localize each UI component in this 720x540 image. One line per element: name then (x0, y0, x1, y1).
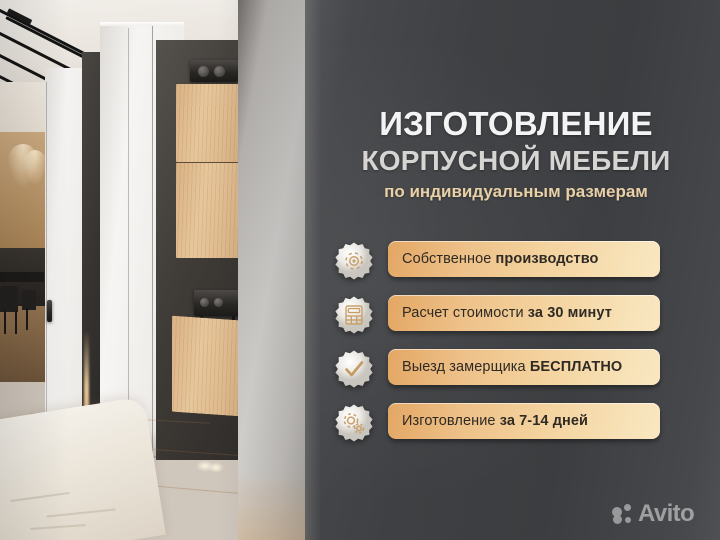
feature-pill: Расчет стоимости за 30 минут (388, 295, 660, 331)
feature-pill: Изготовление за 7-14 дней (388, 403, 660, 439)
feature-text: Выезд замерщика БЕСПЛАТНО (388, 359, 660, 375)
calculator-rosette-icon (334, 295, 374, 335)
avito-watermark: Avito (612, 498, 712, 530)
headline-block: ИЗГОТОВЛЕНИЕ КОРПУСНОЙ МЕБЕЛИ по индивид… (321, 104, 711, 204)
feature-text: Собственное производство (388, 251, 660, 267)
avito-ad-banner: ИЗГОТОВЛЕНИЕ КОРПУСНОЙ МЕБЕЛИ по индивид… (0, 0, 720, 540)
panel-left-edge-highlight (305, 0, 321, 540)
gears-rosette-icon (334, 403, 374, 443)
headline-line-1: ИЗГОТОВЛЕНИЕ (321, 104, 711, 143)
feature-text: Изготовление за 7-14 дней (388, 413, 660, 429)
avito-dots-icon (612, 504, 634, 524)
feature-row: Выезд замерщика БЕСПЛАТНО (334, 346, 674, 400)
photo-vignette (0, 0, 312, 540)
check-rosette-icon (334, 349, 374, 389)
feature-list: Собственное производство (334, 238, 674, 454)
interior-photo (0, 0, 312, 540)
avito-wordmark: Avito (638, 502, 694, 526)
headline-line-2: КОРПУСНОЙ МЕБЕЛИ (321, 143, 711, 178)
feature-text: Расчет стоимости за 30 минут (388, 305, 660, 321)
feature-row: Расчет стоимости за 30 минут (334, 292, 674, 346)
gear-rosette-icon (334, 241, 374, 281)
feature-pill: Собственное производство (388, 241, 660, 277)
feature-row: Изготовление за 7-14 дней (334, 400, 674, 454)
headline-tagline: по индивидуальным размерам (321, 180, 711, 204)
feature-pill: Выезд замерщика БЕСПЛАТНО (388, 349, 660, 385)
feature-row: Собственное производство (334, 238, 674, 292)
